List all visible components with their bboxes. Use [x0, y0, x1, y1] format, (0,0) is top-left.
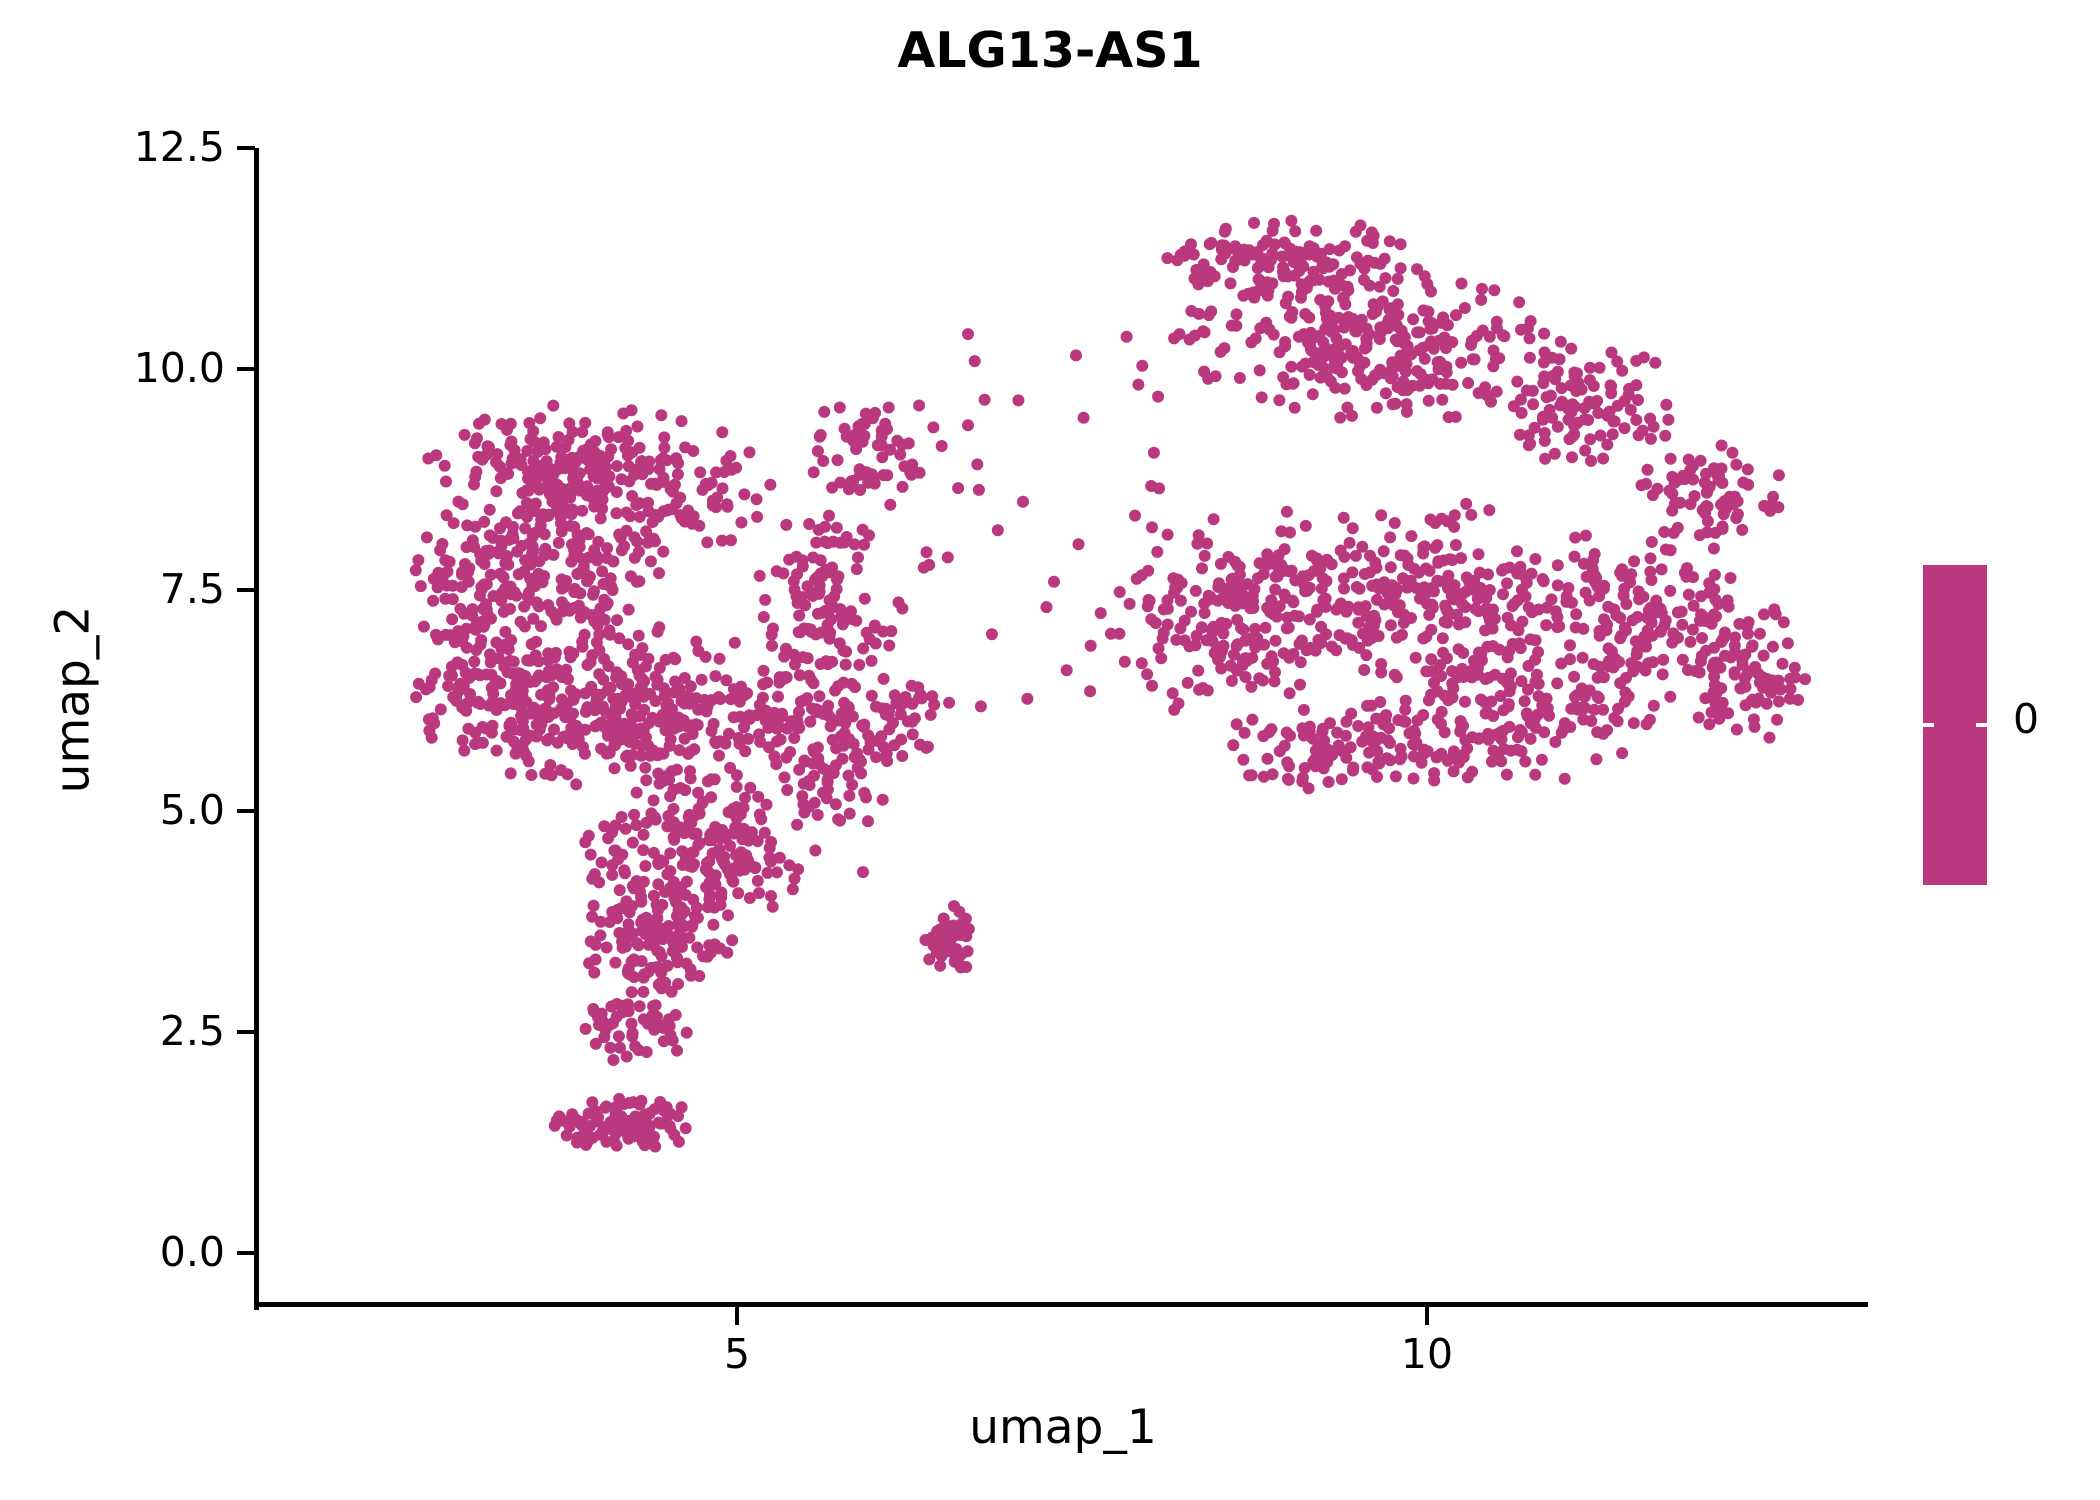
y-tick-label: 12.5 — [134, 127, 225, 168]
y-tick-label: 7.5 — [160, 569, 225, 610]
x-tick-label: 10 — [1367, 1334, 1487, 1375]
y-tick-mark — [237, 588, 255, 592]
y-axis-label: umap_2 — [46, 420, 101, 980]
y-axis-spine — [254, 148, 259, 1310]
colorbar-tick-label: 0 — [2013, 699, 2039, 740]
y-tick-mark — [237, 367, 255, 371]
colorbar-tick-left — [1923, 723, 1934, 727]
y-tick-label: 0.0 — [160, 1232, 225, 1273]
y-tick-label: 10.0 — [134, 348, 225, 389]
chart-canvas: ALG13-AS1 0.02.55.07.510.012.5 510 umap_… — [0, 0, 2100, 1500]
x-tick-mark — [1425, 1307, 1429, 1325]
scatter-points-layer — [258, 100, 1868, 1306]
y-tick-mark — [237, 146, 255, 150]
x-axis-label: umap_1 — [258, 1400, 1868, 1455]
x-tick-mark — [735, 1307, 739, 1325]
colorbar: 0 — [1923, 565, 2093, 895]
y-tick-mark — [237, 1030, 255, 1034]
plot-area — [258, 100, 1868, 1306]
y-tick-mark — [237, 809, 255, 813]
colorbar-tick-right — [1976, 723, 1987, 727]
x-tick-label: 5 — [677, 1334, 797, 1375]
y-tick-label: 5.0 — [160, 790, 225, 831]
y-tick-label: 2.5 — [160, 1011, 225, 1052]
x-axis-spine — [254, 1302, 1868, 1307]
y-tick-mark — [237, 1251, 255, 1255]
page-title: ALG13-AS1 — [0, 22, 2100, 79]
